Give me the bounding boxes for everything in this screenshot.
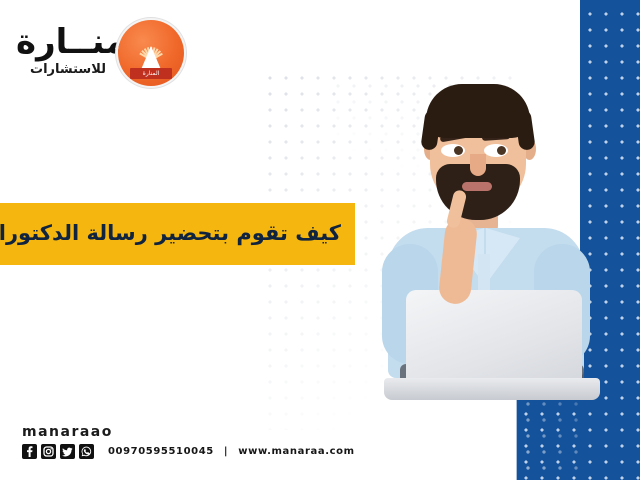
laptop-base xyxy=(384,378,600,400)
hair xyxy=(426,84,530,138)
headline-banner: كيف تقوم بتحضير رسالة الدكتوراة xyxy=(0,203,355,265)
footer: manaraao 00970595510045 | www.manaraa.co… xyxy=(22,424,442,468)
footer-contact-row: 00970595510045 | www.manaraa.com xyxy=(22,444,442,459)
website-url[interactable]: www.manaraa.com xyxy=(238,446,354,457)
mouth xyxy=(462,182,492,191)
lighthouse-circle-logo-icon: المنارة xyxy=(118,20,184,86)
logo-subtitle: للاستشارات xyxy=(30,62,106,77)
laptop-lid xyxy=(406,290,582,392)
brand-logo[interactable]: المنــارة للاستشارات المنارة xyxy=(14,10,194,88)
contact-separator: | xyxy=(224,446,228,457)
facebook-icon[interactable] xyxy=(22,444,37,459)
eye-right xyxy=(484,144,508,157)
headline-text: كيف تقوم بتحضير رسالة الدكتوراة xyxy=(0,222,341,245)
poster-canvas: المنــارة للاستشارات المنارة كيف تقوم بت… xyxy=(0,0,640,480)
twitter-icon[interactable] xyxy=(60,444,75,459)
contact-info: 00970595510045 | www.manaraa.com xyxy=(108,446,355,457)
whatsapp-icon[interactable] xyxy=(79,444,94,459)
logo-mark-banner: المنارة xyxy=(130,68,172,79)
instagram-icon[interactable] xyxy=(41,444,56,459)
hero-photo-thinking-man xyxy=(378,78,593,408)
eye-left xyxy=(441,144,465,157)
social-handle: manaraao xyxy=(22,424,442,440)
pupil-left xyxy=(454,146,463,155)
phone-number: 00970595510045 xyxy=(108,446,214,457)
nose xyxy=(470,154,486,176)
pupil-right xyxy=(497,146,506,155)
